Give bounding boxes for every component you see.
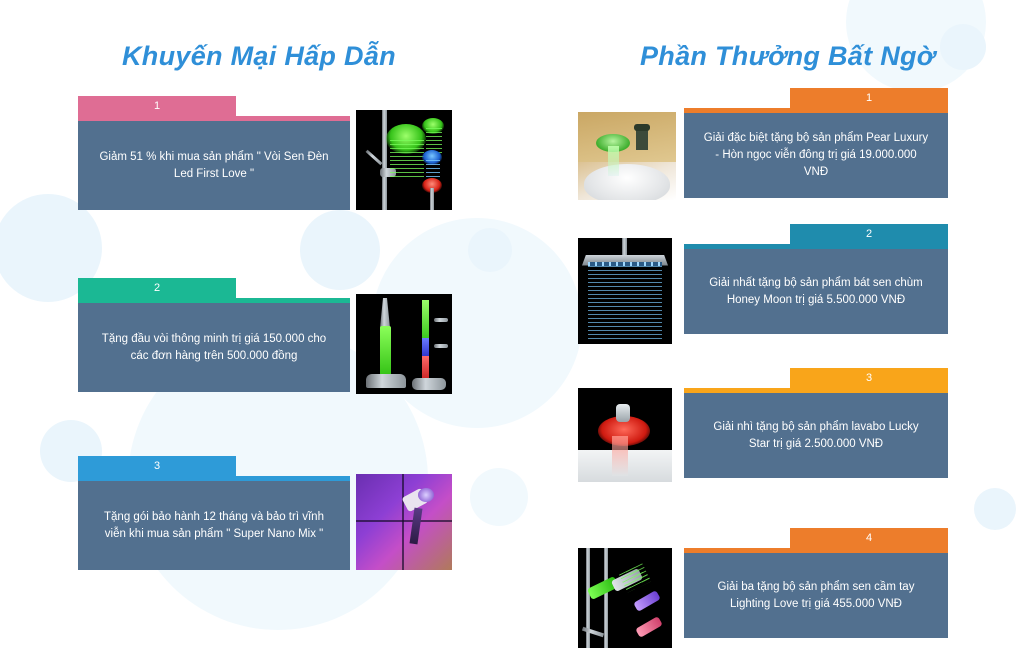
led-shower-head-green-photo — [356, 110, 452, 210]
promo-card-text: Tặng đầu vòi thông minh trị giá 150.000 … — [96, 331, 332, 365]
promo-card-number: 3 — [78, 456, 236, 476]
lucky-star-lavabo-red-photo — [578, 388, 672, 482]
right-column-title: Phần Thưởng Bất Ngờ — [640, 41, 935, 72]
prize-card-number: 4 — [790, 528, 948, 548]
prize-card-body: Giải đặc biệt tặng bộ sản phẩm Pear Luxu… — [684, 113, 948, 198]
lighting-love-handheld-shower-photo — [578, 548, 672, 648]
decor-circle — [940, 24, 986, 70]
prize-card-text: Giải nhất tặng bộ sản phẩm bát sen chùm … — [702, 275, 930, 309]
left-column-title: Khuyến Mại Hấp Dẫn — [122, 41, 396, 72]
prize-card-number: 2 — [790, 224, 948, 244]
led-faucet-green-photo — [356, 294, 452, 394]
prize-card[interactable]: 3 Giải nhì tặng bộ sản phẩm lavabo Lucky… — [684, 368, 948, 478]
prize-card[interactable]: 1 Giải đặc biệt tặng bộ sản phẩm Pear Lu… — [684, 88, 948, 198]
promo-card[interactable]: 2 Tặng đầu vòi thông minh trị giá 150.00… — [78, 278, 350, 392]
promotion-slide: Khuyến Mại Hấp Dẫn Phần Thưởng Bất Ngờ 1… — [0, 0, 1024, 648]
pear-luxury-basin-faucet-photo — [578, 112, 676, 200]
decor-circle — [468, 228, 512, 272]
prize-card-text: Giải ba tặng bộ sản phẩm sen cầm tay Lig… — [702, 579, 930, 613]
prize-card-text: Giải đặc biệt tặng bộ sản phẩm Pear Luxu… — [702, 130, 930, 181]
honey-moon-rain-shower-photo — [578, 238, 672, 344]
promo-card-number: 1 — [78, 96, 236, 116]
promo-card[interactable]: 1 Giảm 51 % khi mua sản phẩm " Vòi Sen Đ… — [78, 96, 350, 210]
promo-card-number: 2 — [78, 278, 236, 298]
decor-circle — [974, 488, 1016, 530]
prize-card-number: 3 — [790, 368, 948, 388]
decor-circle — [470, 468, 528, 526]
promo-card-body: Giảm 51 % khi mua sản phẩm " Vòi Sen Đèn… — [78, 121, 350, 210]
prize-card-body: Giải ba tặng bộ sản phẩm sen cầm tay Lig… — [684, 553, 948, 638]
prize-card-body: Giải nhất tặng bộ sản phẩm bát sen chùm … — [684, 249, 948, 334]
prize-card-text: Giải nhì tặng bộ sản phẩm lavabo Lucky S… — [702, 419, 930, 453]
prize-card[interactable]: 4 Giải ba tặng bộ sản phẩm sen cầm tay L… — [684, 528, 948, 638]
prize-card-body: Giải nhì tặng bộ sản phẩm lavabo Lucky S… — [684, 393, 948, 478]
promo-card[interactable]: 3 Tặng gói bảo hành 12 tháng và bảo trì … — [78, 456, 350, 570]
prize-card-number: 1 — [790, 88, 948, 108]
promo-card-text: Tặng gói bảo hành 12 tháng và bảo trì vĩ… — [96, 509, 332, 543]
promo-card-text: Giảm 51 % khi mua sản phẩm " Vòi Sen Đèn… — [96, 149, 332, 183]
promo-card-body: Tặng đầu vòi thông minh trị giá 150.000 … — [78, 303, 350, 392]
prize-card[interactable]: 2 Giải nhất tặng bộ sản phẩm bát sen chù… — [684, 224, 948, 334]
purple-led-shower-photo — [356, 474, 452, 570]
promo-card-body: Tặng gói bảo hành 12 tháng và bảo trì vĩ… — [78, 481, 350, 570]
